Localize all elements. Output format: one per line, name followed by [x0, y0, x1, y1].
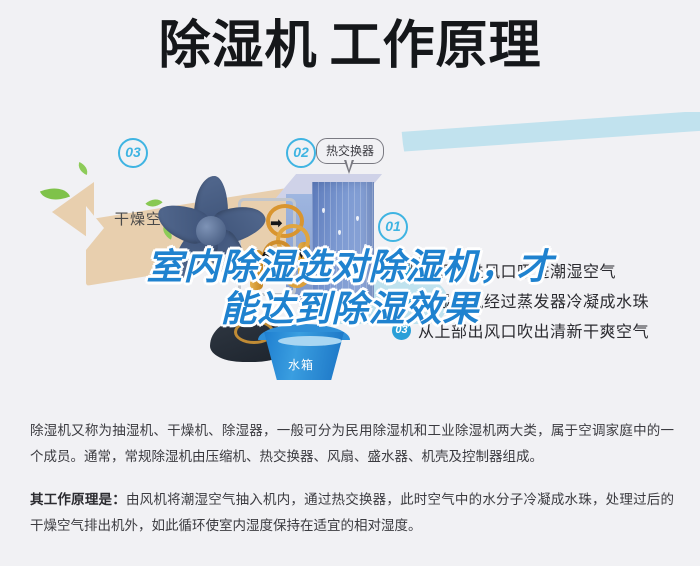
step-number-badge: 01 [392, 261, 411, 280]
flow-arrow-down-icon: ▼ [294, 246, 309, 261]
water-tank-body: 水箱 [264, 332, 344, 380]
step-item: 01 由下部进风口吸进潮湿空气 [392, 255, 692, 285]
diagram-badge-02: 02 [286, 138, 316, 168]
step-label: 由下部进风口吸进潮湿空气 [418, 258, 616, 282]
water-tank-label: 水箱 [288, 356, 314, 373]
diagram-badge-03: 03 [118, 138, 148, 168]
step-label: 从上部出风口吹出清新干爽空气 [418, 318, 649, 342]
water-tank: 水箱 [258, 324, 350, 386]
page-title-part-2: 工作原理 [330, 17, 542, 75]
paragraph-intro: 除湿机又称为抽湿机、干燥机、除湿器，一般可分为民用除湿机和工业除湿机两大类，属于… [30, 418, 674, 471]
paragraph-principle-text: 由风机将潮湿空气抽入机内，通过热交换器，此时空气中的水分子冷凝成水珠，处理过后的… [30, 492, 674, 533]
step-number-badge: 03 [392, 321, 411, 340]
page-title-part-1: 除湿机 [158, 17, 317, 75]
article-body: 除湿机又称为抽湿机、干燥机、除湿器，一般可分为民用除湿机和工业除湿机两大类，属于… [30, 418, 674, 555]
fan-illustration [148, 170, 272, 288]
callout-pointer-inner [346, 159, 352, 170]
step-label: 潮湿空气经过蒸发器冷凝成水珠 [418, 288, 649, 312]
paragraph-principle-lead: 其工作原理是： [30, 492, 126, 507]
diagram-badge-01: 01 [378, 212, 408, 242]
step-number-badge: 02 [392, 291, 411, 310]
fan-hub [196, 216, 226, 246]
step-item: 03 从上部出风口吹出清新干爽空气 [392, 315, 692, 345]
water-tank-opening [278, 336, 342, 346]
page-title: 除湿机工作原理 [0, 20, 700, 72]
page-root: 除湿机工作原理 干燥空气 潮湿空气 03 02 01 热交换器 [0, 0, 700, 566]
step-item: 02 潮湿空气经过蒸发器冷凝成水珠 [392, 285, 692, 315]
step-list: 01 由下部进风口吸进潮湿空气 02 潮湿空气经过蒸发器冷凝成水珠 03 从上部… [392, 255, 692, 345]
paragraph-principle: 其工作原理是：由风机将潮湿空气抽入机内，通过热交换器，此时空气中的水分子冷凝成水… [30, 487, 674, 540]
humid-air-inlet-arrow-shaft [318, 300, 348, 310]
dry-air-arrow-notch [86, 206, 104, 250]
